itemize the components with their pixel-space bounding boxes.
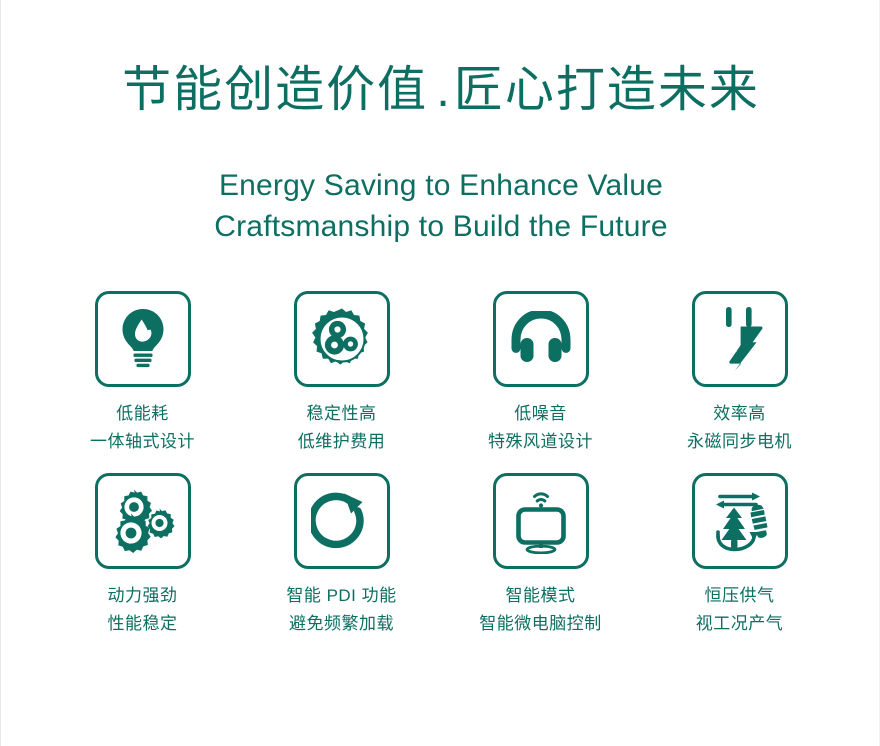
feature-label: 低噪音 特殊风道设计 bbox=[488, 400, 593, 455]
monitor-wifi-icon bbox=[509, 488, 573, 554]
headline: 节能创造价值.匠心打造未来 bbox=[1, 62, 880, 120]
feature-label-line-1: 效率高 bbox=[713, 404, 766, 423]
feature-label-line-1: 智能模式 bbox=[506, 586, 576, 605]
feature-label: 智能模式 智能微电脑控制 bbox=[479, 582, 602, 637]
feature-label-line-2: 性能稳定 bbox=[108, 610, 178, 638]
top-watermark-strip: ···· ·· ··· ····· ·· ·· ··· ·· ···· bbox=[1, 10, 880, 26]
power-plug-bolt-icon bbox=[713, 306, 767, 372]
feature-item-low-noise[interactable]: 低噪音 特殊风道设计 bbox=[441, 291, 640, 455]
feature-icon-box bbox=[95, 291, 191, 387]
headline-separator: . bbox=[428, 63, 454, 117]
feature-icon-box bbox=[294, 291, 390, 387]
feature-grid: 低能耗 一体轴式设计 bbox=[43, 291, 839, 637]
watermark-item: ····· bbox=[386, 12, 409, 24]
watermark-item: ·· bbox=[578, 12, 587, 24]
watermark-item: ·· bbox=[295, 12, 304, 24]
feature-label-line-1: 低能耗 bbox=[116, 404, 169, 423]
feature-label: 效率高 永磁同步电机 bbox=[687, 400, 792, 455]
feature-item-high-stability[interactable]: 稳定性高 低维护费用 bbox=[242, 291, 441, 455]
watermark-item: ··· bbox=[530, 12, 544, 24]
refresh-circle-arrow-icon bbox=[311, 490, 373, 552]
feature-icon-box bbox=[95, 473, 191, 569]
tree-eco-bulb-cycle-icon bbox=[708, 488, 772, 554]
feature-icon-box bbox=[294, 473, 390, 569]
feature-label: 稳定性高 低维护费用 bbox=[298, 400, 386, 455]
feature-icon-box bbox=[493, 291, 589, 387]
watermark-item: ···· bbox=[621, 12, 640, 24]
feature-item-constant-pressure[interactable]: 恒压供气 视工况产气 bbox=[640, 473, 839, 637]
feature-icon-box bbox=[493, 473, 589, 569]
gear-ring-icon bbox=[310, 307, 374, 371]
feature-label-line-2: 永磁同步电机 bbox=[687, 428, 792, 456]
headphones-icon bbox=[509, 311, 573, 367]
three-gears-icon bbox=[109, 488, 177, 554]
headline-chinese-part2: 匠心打造未来 bbox=[454, 63, 760, 117]
feature-item-strong-power[interactable]: 动力强劲 性能稳定 bbox=[43, 473, 242, 637]
feature-label-line-1: 智能 PDI 功能 bbox=[286, 586, 396, 605]
watermark-item: ··· bbox=[338, 12, 352, 24]
watermark-item: ·· bbox=[487, 12, 496, 24]
watermark-item: ···· bbox=[242, 12, 261, 24]
subtitle-line-1: Energy Saving to Enhance Value bbox=[1, 165, 880, 206]
lightbulb-leaf-icon bbox=[114, 307, 172, 371]
subtitle-line-2: Craftsmanship to Build the Future bbox=[1, 206, 880, 247]
feature-label: 动力强劲 性能稳定 bbox=[108, 582, 178, 637]
feature-item-low-energy[interactable]: 低能耗 一体轴式设计 bbox=[43, 291, 242, 455]
feature-label-line-1: 动力强劲 bbox=[108, 586, 178, 605]
feature-label-line-2: 避免频繁加载 bbox=[286, 610, 396, 638]
feature-label-line-2: 特殊风道设计 bbox=[488, 428, 593, 456]
feature-label: 智能 PDI 功能 避免频繁加载 bbox=[286, 582, 396, 637]
feature-item-high-efficiency[interactable]: 效率高 永磁同步电机 bbox=[640, 291, 839, 455]
feature-label-line-2: 视工况产气 bbox=[696, 610, 784, 638]
subtitle: Energy Saving to Enhance Value Craftsman… bbox=[1, 165, 880, 247]
feature-label: 低能耗 一体轴式设计 bbox=[90, 400, 195, 455]
headline-chinese-part1: 节能创造价值 bbox=[122, 63, 428, 117]
feature-label-line-2: 一体轴式设计 bbox=[90, 428, 195, 456]
feature-label-line-1: 低噪音 bbox=[514, 404, 567, 423]
feature-item-intelligent-mode[interactable]: 智能模式 智能微电脑控制 bbox=[441, 473, 640, 637]
feature-label-line-2: 智能微电脑控制 bbox=[479, 610, 602, 638]
feature-label-line-1: 稳定性高 bbox=[307, 404, 377, 423]
feature-icon-box bbox=[692, 473, 788, 569]
feature-label-line-1: 恒压供气 bbox=[705, 586, 775, 605]
feature-item-pdi-function[interactable]: 智能 PDI 功能 避免频繁加载 bbox=[242, 473, 441, 637]
feature-icon-box bbox=[692, 291, 788, 387]
headline-chinese: 节能创造价值.匠心打造未来 bbox=[1, 62, 880, 120]
feature-label: 恒压供气 视工况产气 bbox=[696, 582, 784, 637]
watermark-item: ·· bbox=[443, 12, 452, 24]
feature-label-line-2: 低维护费用 bbox=[298, 428, 386, 456]
